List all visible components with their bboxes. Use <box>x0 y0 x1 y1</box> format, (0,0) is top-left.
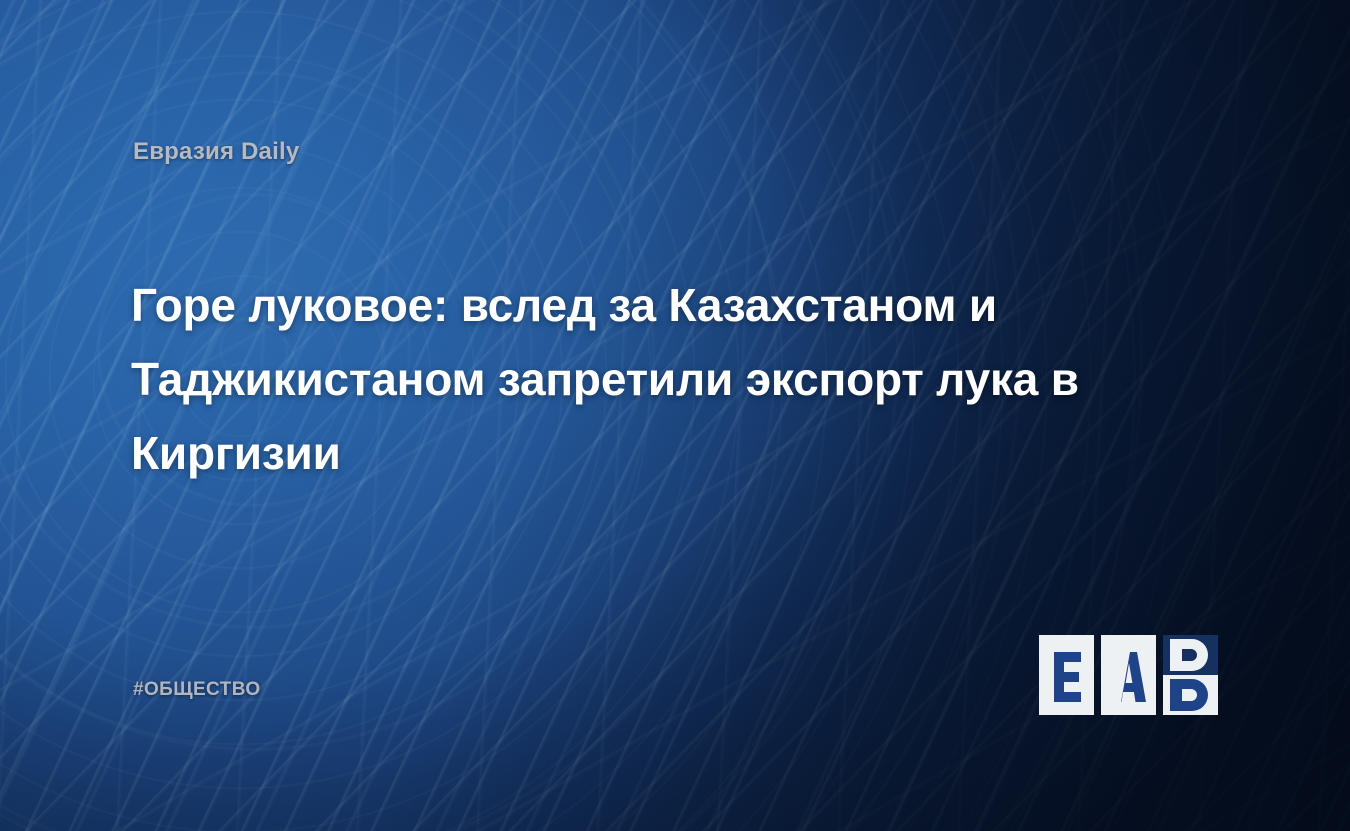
logo-tile-a <box>1101 635 1156 715</box>
logo-letter-e <box>1054 652 1081 702</box>
page-title: Горе луковое: вслед за Казахстаном и Тад… <box>131 268 1191 490</box>
card-content: Евразия Daily Горе луковое: вслед за Каз… <box>0 0 1350 831</box>
site-masthead[interactable]: Евразия Daily <box>133 138 299 166</box>
eadaily-logo[interactable]: EAD <box>1039 631 1223 719</box>
news-card: Евразия Daily Горе луковое: вслед за Каз… <box>0 0 1350 831</box>
category-tag[interactable]: #ОБЩЕСТВО <box>133 679 261 701</box>
